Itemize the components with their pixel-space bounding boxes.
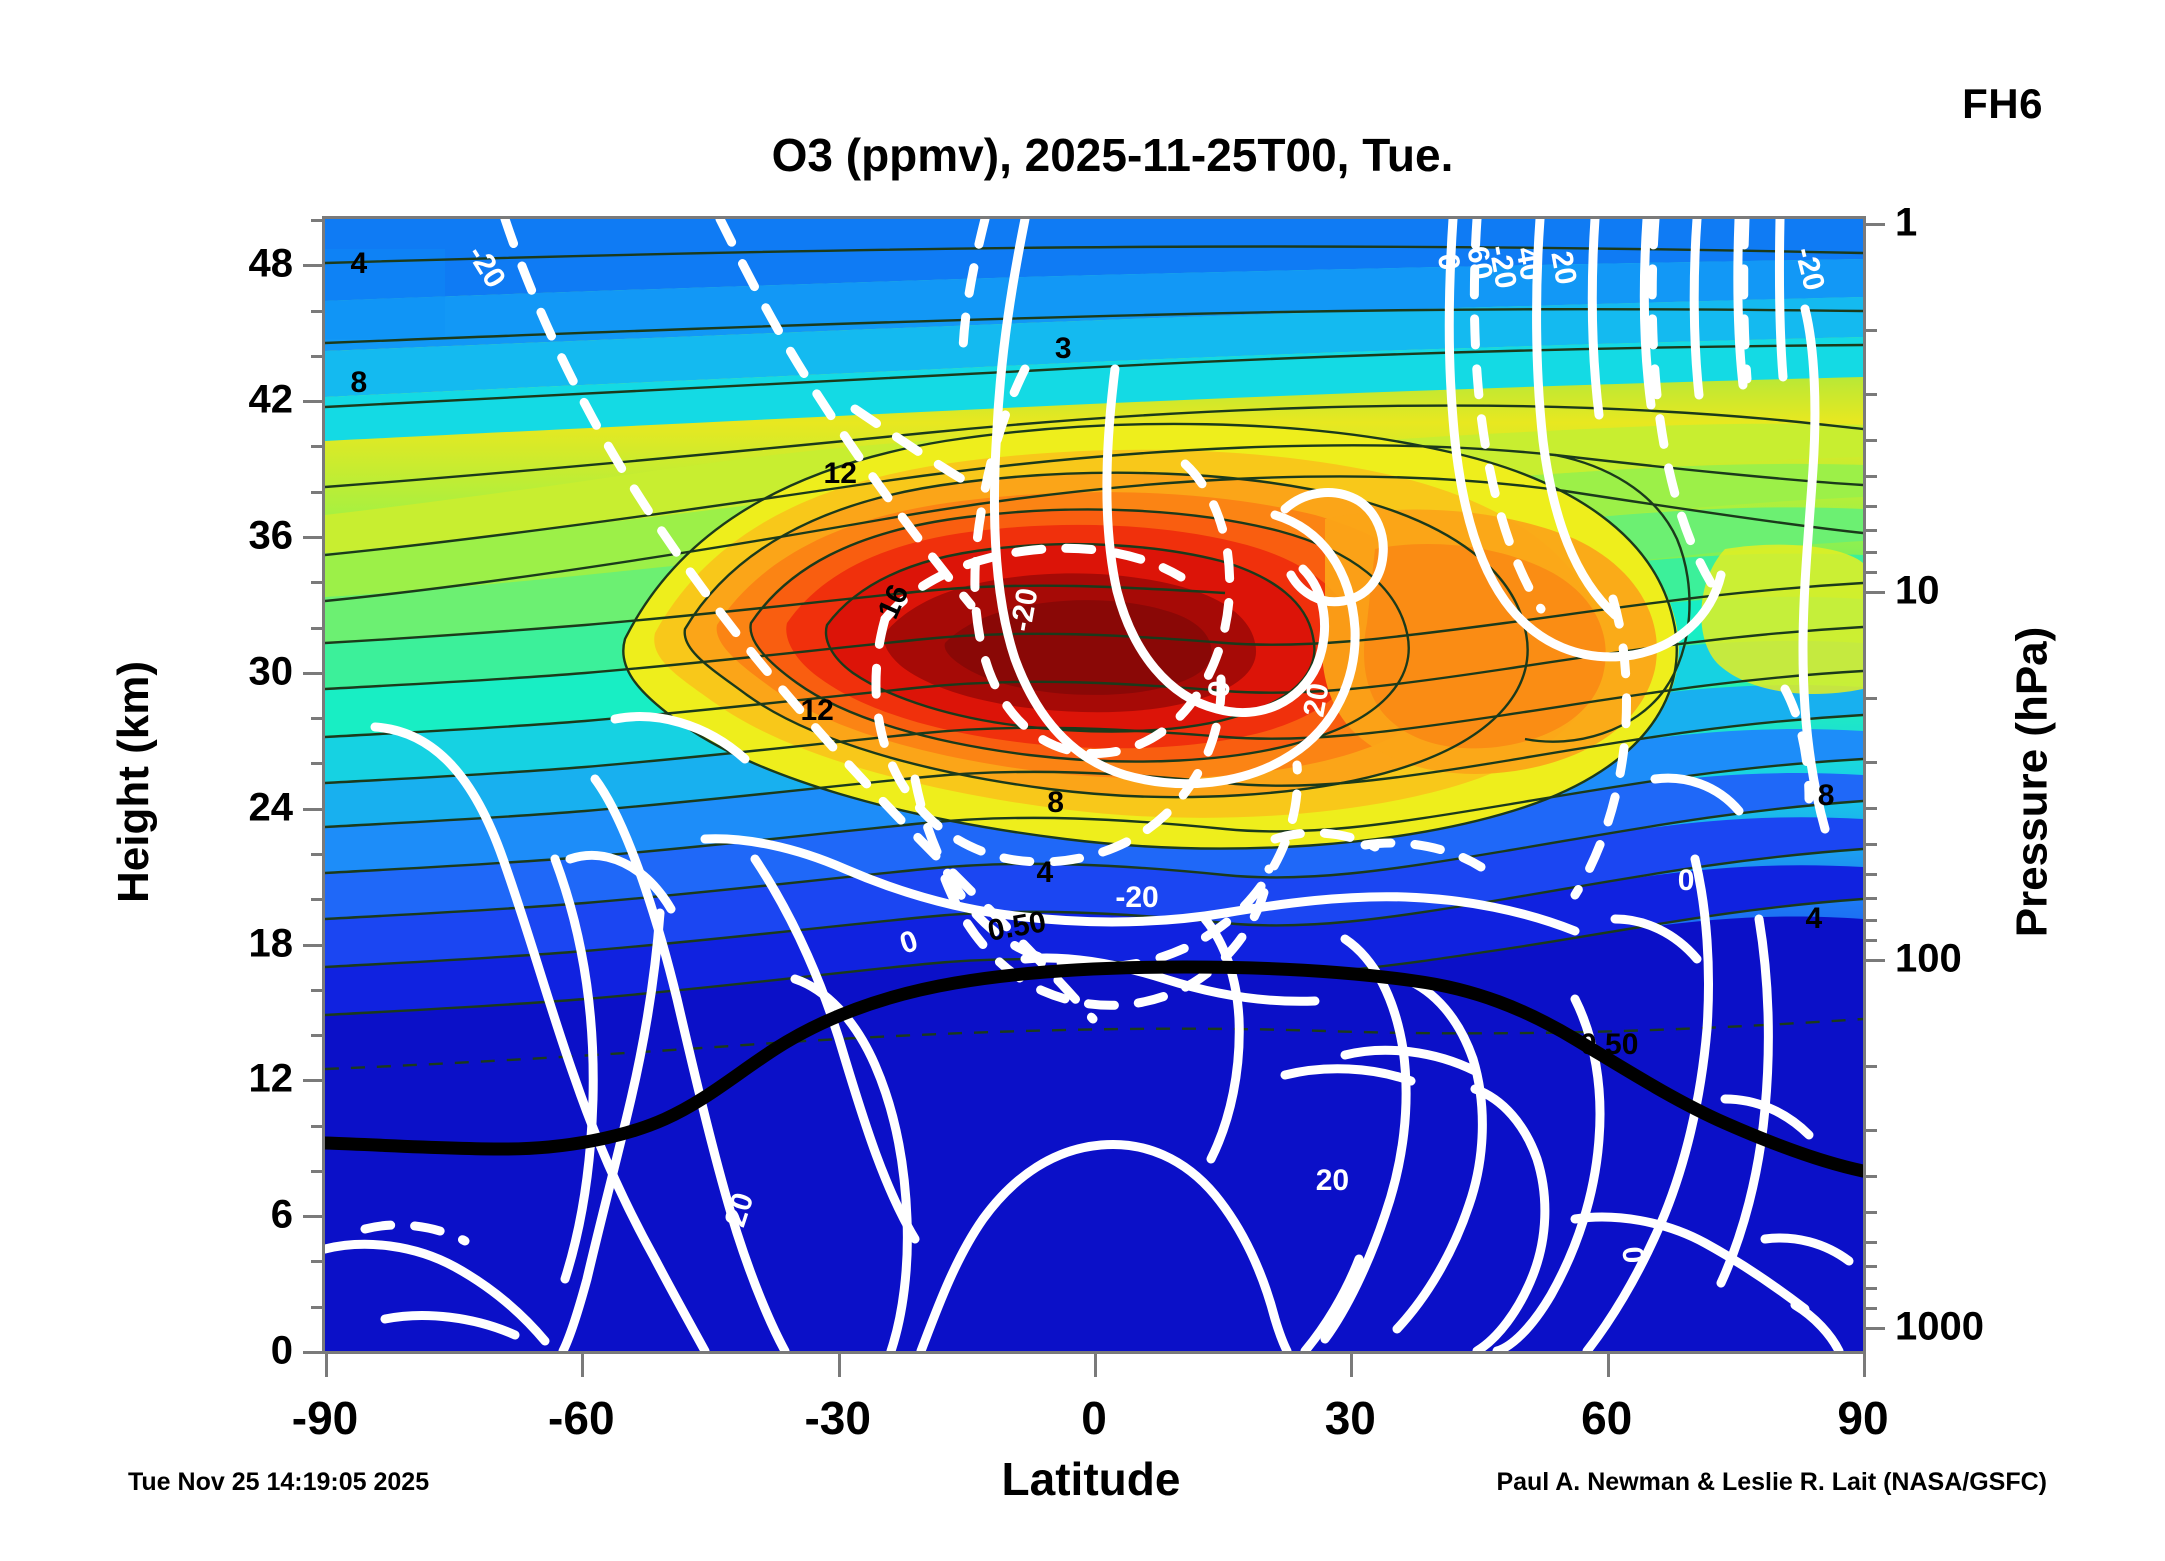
plot-canvas xyxy=(325,219,1863,1351)
x-tick-label-m90: -90 xyxy=(292,1391,358,1445)
x-tick-label-30: 30 xyxy=(1325,1391,1376,1445)
x-tick-label-60: 60 xyxy=(1581,1391,1632,1445)
contour-label-ozone-8-right: 8 xyxy=(1818,781,1835,811)
y2-tick-label-100: 100 xyxy=(1895,937,1962,982)
contour-label-wind-0-topright: 0 xyxy=(1432,252,1464,272)
contour-label-ozone-8-mid: 8 xyxy=(1047,788,1064,818)
contour-label-ozone-8-top: 8 xyxy=(350,368,367,398)
contour-label-ozone-050-right: 0.50 xyxy=(1580,1030,1638,1060)
y-tick-label-18: 18 xyxy=(249,921,294,966)
contour-label-wind-3: 3 xyxy=(1055,334,1072,364)
y2-axis-title-text: Pressure (hPa) xyxy=(2007,627,2057,938)
y-tick-label-48: 48 xyxy=(249,242,294,287)
contour-label-ozone-12-lower: 12 xyxy=(800,696,833,726)
x-tick-label-m30: -30 xyxy=(804,1391,870,1445)
contour-label-wind-20-lowerNH: 20 xyxy=(1316,1166,1349,1196)
plot-area: 4 8 12 16 12 8 4 0.50 8 4 0.50 -20 -20 -… xyxy=(322,216,1866,1354)
contour-label-wind-neg20-lower: -20 xyxy=(1115,883,1158,913)
contour-label-ozone-4-right: 4 xyxy=(1805,904,1822,934)
y2-axis-title: Pressure (hPa) xyxy=(2002,216,2062,1348)
y-tick-label-42: 42 xyxy=(249,378,294,423)
y-axis-title-text: Height (km) xyxy=(109,661,159,903)
contour-label-ozone-4-mid: 4 xyxy=(1036,858,1053,888)
contour-plot-svg xyxy=(325,219,1863,1351)
y-tick-label-24: 24 xyxy=(249,785,294,830)
timestamp-label: Tue Nov 25 14:19:05 2025 xyxy=(128,1468,429,1497)
contour-label-ozone-12-upper: 12 xyxy=(824,459,857,489)
contour-label-ozone-4-top: 4 xyxy=(350,249,367,279)
x-tick-label-0: 0 xyxy=(1081,1391,1107,1445)
page-title: O3 (ppmv), 2025-11-25T00, Tue. xyxy=(0,128,2165,182)
y2-tick-label-1: 1 xyxy=(1895,201,1917,246)
y-tick-label-0: 0 xyxy=(271,1329,293,1374)
contour-label-wind-20-top: 20 xyxy=(1545,249,1580,287)
y-tick-label-6: 6 xyxy=(271,1193,293,1238)
x-tick-label-m60: -60 xyxy=(548,1391,614,1445)
contour-label-wind-neg20-center: -20 xyxy=(1006,586,1043,634)
contour-label-wind-0-center: 0 xyxy=(1204,679,1236,699)
y-axis-title: Height (km) xyxy=(104,216,164,1348)
y2-tick-label-1000: 1000 xyxy=(1895,1305,1984,1350)
y-tick-label-36: 36 xyxy=(249,514,294,559)
contour-label-wind-0-bottom: 0 xyxy=(1617,1245,1648,1264)
contour-label-wind-20-core: 20 xyxy=(1299,681,1334,719)
y2-tick-label-10: 10 xyxy=(1895,569,1940,614)
y-tick-label-30: 30 xyxy=(249,649,294,694)
contour-label-wind-0-right: 0 xyxy=(1678,866,1695,896)
forecast-hour-label: FH6 xyxy=(1962,80,2043,128)
contour-label-wind-40: 40 xyxy=(1510,245,1545,283)
y-tick-label-12: 12 xyxy=(249,1057,294,1102)
x-tick-label-90: 90 xyxy=(1837,1391,1888,1445)
contour-label-wind-60: 60 xyxy=(1461,244,1496,282)
credit-label: Paul A. Newman & Leslie R. Lait (NASA/GS… xyxy=(1496,1468,2047,1497)
